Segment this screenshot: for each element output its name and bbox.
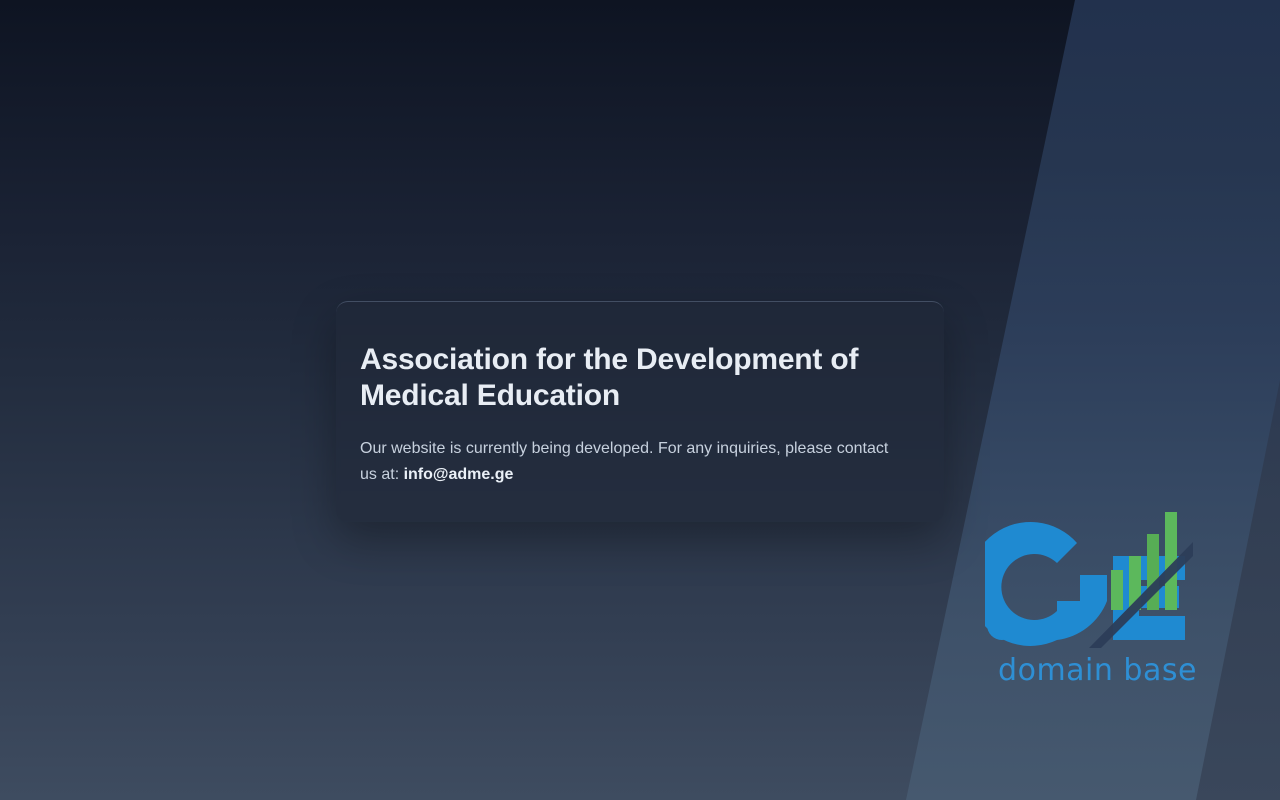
logo-letter-g-icon xyxy=(985,522,1107,646)
page-title: Association for the Development of Medic… xyxy=(360,342,900,414)
development-notice: Our website is currently being developed… xyxy=(360,436,900,488)
announcement-card: Association for the Development of Medic… xyxy=(336,301,944,522)
contact-email[interactable]: info@adme.ge xyxy=(404,466,514,483)
ge-domain-base-logo: domain base xyxy=(985,498,1210,703)
logo-wordmark: domain base xyxy=(985,653,1210,688)
page-root: Association for the Development of Medic… xyxy=(0,0,1280,800)
ge-logo-icon xyxy=(985,498,1210,648)
